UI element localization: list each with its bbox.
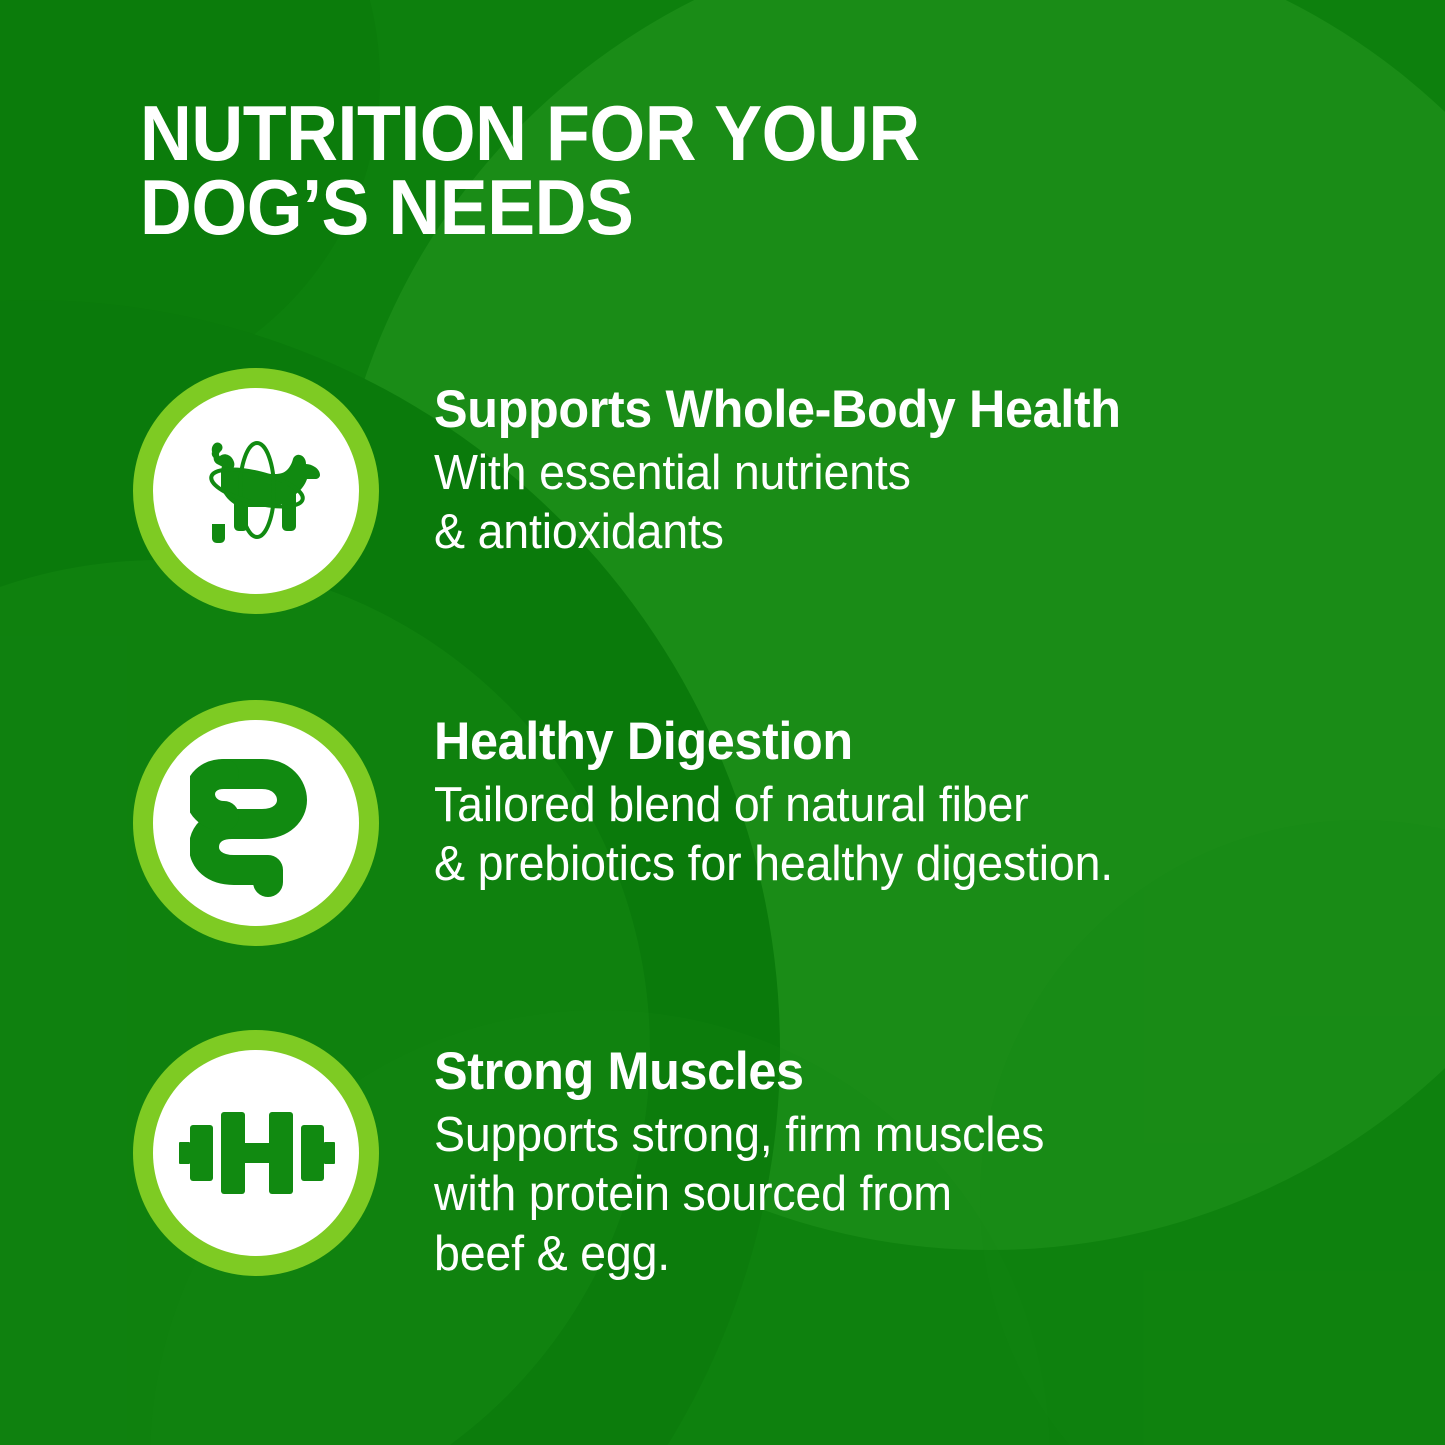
dog-atom-icon bbox=[181, 416, 331, 566]
benefit-copy: Strong Muscles Supports strong, firm mus… bbox=[434, 1030, 1445, 1285]
benefit-row-whole-body-health: Supports Whole-Body Health With essentia… bbox=[0, 368, 1445, 614]
badge-inner-disc bbox=[153, 720, 359, 926]
benefit-title: Healthy Digestion bbox=[434, 714, 1394, 770]
intestine-icon bbox=[190, 748, 322, 898]
badge-inner-disc bbox=[153, 388, 359, 594]
benefit-icon-badge bbox=[133, 700, 379, 946]
nutrition-infographic: NUTRITION FOR YOUR DOG’S NEEDS bbox=[0, 0, 1445, 1445]
benefit-row-strong-muscles: Strong Muscles Supports strong, firm mus… bbox=[0, 1030, 1445, 1285]
benefit-copy: Healthy Digestion Tailored blend of natu… bbox=[434, 700, 1445, 895]
benefit-description: Supports strong, firm muscles with prote… bbox=[434, 1106, 1394, 1285]
badge-inner-disc bbox=[153, 1050, 359, 1256]
page-title: NUTRITION FOR YOUR DOG’S NEEDS bbox=[140, 96, 1244, 244]
benefit-title: Strong Muscles bbox=[434, 1044, 1394, 1100]
benefit-icon-badge bbox=[133, 1030, 379, 1276]
benefit-title: Supports Whole-Body Health bbox=[434, 382, 1394, 438]
background-blob-mid-left bbox=[0, 560, 650, 1445]
dumbbell-icon bbox=[177, 1098, 335, 1208]
benefit-copy: Supports Whole-Body Health With essentia… bbox=[434, 368, 1445, 563]
benefit-description: Tailored blend of natural fiber & prebio… bbox=[434, 776, 1394, 896]
benefit-icon-badge bbox=[133, 368, 379, 614]
benefit-description: With essential nutrients & antioxidants bbox=[434, 444, 1394, 564]
benefit-row-healthy-digestion: Healthy Digestion Tailored blend of natu… bbox=[0, 700, 1445, 946]
